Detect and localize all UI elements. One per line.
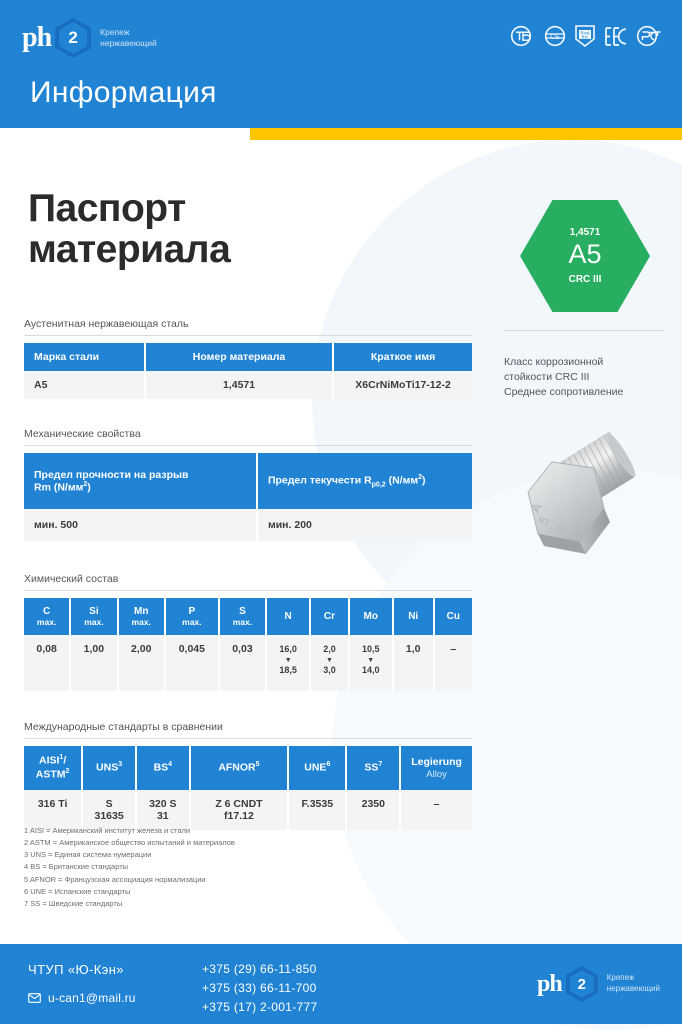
qual-si: max. <box>81 617 106 627</box>
footer-email-text: u-can1@mail.ru <box>48 991 136 1005</box>
footnote-item: 1 AISI = Американский институт железа и … <box>24 825 235 837</box>
col-header-une: UNE6 <box>288 746 346 790</box>
mechanical-properties-block: Механические свойства Предел прочности н… <box>24 428 472 541</box>
uns-sup: 3 <box>118 761 122 768</box>
col-header-c: Cmax. <box>24 598 70 635</box>
svg-text:frei: frei <box>582 35 588 40</box>
col-header-p: Pmax. <box>165 598 219 635</box>
cell-une: F.3535 <box>288 790 346 830</box>
footer-brand-tagline: Крепеж нержавеющий <box>607 973 660 995</box>
footnote-item: 3 UNS = Единая система нумерации <box>24 849 235 861</box>
yield-mid: (N/мм <box>386 474 418 486</box>
une-sup: 6 <box>326 761 330 768</box>
chemical-composition-block: Химический состав Cmax. Simax. Mnmax. Pm… <box>24 573 472 691</box>
table-header-row: AISI1/ ASTM2 UNS3 BS4 AFNOR5 UNE6 SS7 Le… <box>24 746 472 790</box>
qual-mn: max. <box>129 617 154 627</box>
yield-sup: 2 <box>418 474 422 481</box>
cell-mo-max: 14,0 <box>360 664 382 678</box>
footnote-item: 5 AFNOR = Французская ассоциация нормали… <box>24 874 235 886</box>
bs-sup: 4 <box>168 761 172 768</box>
col-header-alloy: Legierung Alloy <box>400 746 472 790</box>
col-header-tensile-strength: Предел прочности на разрыв Rm (N/мм2) <box>24 453 257 509</box>
cell-cr: 2,0 ▼ 3,0 <box>310 635 349 691</box>
ss-sup: 7 <box>378 761 382 768</box>
ss-text: SS <box>364 762 378 774</box>
cell-ni: 1,0 <box>393 635 434 691</box>
badge-crc-class: CRC III <box>569 274 602 285</box>
footnotes-list: 1 AISI = Американский институт железа и … <box>24 825 235 910</box>
footer-brand-logo[interactable]: ph 2 Крепеж нержавеющий <box>537 966 660 1002</box>
pct-icon <box>636 25 662 47</box>
steel-grade-label: Аустенитная нержавеющая сталь <box>24 318 472 336</box>
table-row: 316 Ti S 31635 320 S 31 Z 6 CNDT f17.12 … <box>24 790 472 830</box>
col-header-n: N <box>266 598 310 635</box>
crc-line3: Среднее сопротивление <box>504 386 623 398</box>
cell-short-name: X6CrNiMoTi17-12-2 <box>333 371 472 399</box>
ce-conformity-icon: CE <box>543 25 567 47</box>
aisi-sup: 1 <box>59 754 63 761</box>
footer-phone[interactable]: +375 (29) 66-11-850 <box>202 960 317 979</box>
footer-phone[interactable]: +375 (17) 2-001-777 <box>202 998 317 1017</box>
uns-text: UNS <box>96 762 118 774</box>
cell-ss: 2350 <box>346 790 400 830</box>
table-header-row: Предел прочности на разрыв Rm (N/мм2) Пр… <box>24 453 472 509</box>
chemical-composition-table: Cmax. Simax. Mnmax. Pmax. Smax. N Cr Mo … <box>24 598 472 691</box>
accent-bar-yellow <box>250 128 682 140</box>
legierung-text: Legierung <box>411 756 462 768</box>
crc-line2: стойкости CRC III <box>504 371 589 383</box>
cell-cr-min: 2,0 <box>321 643 338 657</box>
page-footer: ЧТУП «Ю-Кэн» u-can1@mail.ru +375 (29) 66… <box>0 944 682 1024</box>
mechanical-properties-table: Предел прочности на разрыв Rm (N/мм2) Пр… <box>24 453 472 541</box>
standards-table: AISI1/ ASTM2 UNS3 BS4 AFNOR5 UNE6 SS7 Le… <box>24 746 472 830</box>
sym-c: C <box>34 606 59 617</box>
brand-number: 2 <box>68 28 77 48</box>
sym-s: S <box>230 606 255 617</box>
tensile-line1: Предел прочности на разрыв <box>34 469 188 481</box>
afnor-sup: 5 <box>256 761 260 768</box>
cell-alloy: – <box>400 790 472 830</box>
footer-brand-number: 2 <box>578 976 586 993</box>
eac-icon <box>603 26 629 47</box>
footer-phone[interactable]: +375 (33) 66-11-700 <box>202 979 317 998</box>
col-header-cu: Cu <box>434 598 472 635</box>
cell-tensile-value: мин. 500 <box>24 509 257 541</box>
standards-label: Международные стандарты в сравнении <box>24 721 472 739</box>
footnote-item: 7 SS = Шведские стандарты <box>24 898 235 910</box>
steel-grade-block: Аустенитная нержавеющая сталь Марка стал… <box>24 318 472 399</box>
cell-si: 1,00 <box>70 635 117 691</box>
certification-badges: CE Rost frei <box>510 24 662 48</box>
crc-divider <box>504 330 664 331</box>
mechanical-properties-label: Механические свойства <box>24 428 472 446</box>
afnor-text: AFNOR <box>218 762 255 774</box>
table-row: мин. 500 мин. 200 <box>24 509 472 541</box>
footer-phone-list: +375 (29) 66-11-850 +375 (33) 66-11-700 … <box>202 960 317 1017</box>
col-header-uns: UNS3 <box>82 746 136 790</box>
page-title: Информация <box>30 76 217 110</box>
brand-tagline: Крепеж нержавеющий <box>100 27 157 50</box>
une-text: UNE <box>304 762 326 774</box>
col-header-ni: Ni <box>393 598 434 635</box>
cell-uns: S 31635 <box>82 790 136 830</box>
brand-tagline-line2: нержавеющий <box>100 38 157 48</box>
cell-n: 16,0 ▼ 18,5 <box>266 635 310 691</box>
qual-c: max. <box>34 617 59 627</box>
chemical-composition-label: Химический состав <box>24 573 472 591</box>
cell-s: 0,03 <box>219 635 266 691</box>
cell-steel-grade: A5 <box>24 371 145 399</box>
brand-tagline-line1: Крепеж <box>100 27 129 37</box>
sym-ni: Ni <box>404 611 423 622</box>
cell-c: 0,08 <box>24 635 70 691</box>
col-header-short-name: Краткое имя <box>333 343 472 371</box>
sym-cu: Cu <box>445 611 462 622</box>
col-header-mn: Mnmax. <box>118 598 165 635</box>
table-row: 0,08 1,00 2,00 0,045 0,03 16,0 ▼ 18,5 2,… <box>24 635 472 691</box>
range-arrow-icon: ▼ <box>277 657 299 665</box>
tensile-sup: 2 <box>83 481 87 488</box>
cell-cu: – <box>434 635 472 691</box>
astm-text: ASTM <box>36 769 66 781</box>
footer-brand-tagline-line1: Крепеж <box>607 973 635 982</box>
yield-pre: Предел текучести R <box>268 474 372 486</box>
sym-mn: Mn <box>129 606 154 617</box>
range-arrow-icon: ▼ <box>360 657 382 665</box>
brand-hexagon-icon: 2 <box>55 18 91 58</box>
steel-grade-table: Марка стали Номер материала Краткое имя … <box>24 343 472 399</box>
cell-material-number: 1,4571 <box>145 371 333 399</box>
gost-r-tb-icon <box>510 25 536 47</box>
yield-sub: p0,2 <box>372 481 386 488</box>
footer-brand-hexagon-icon: 2 <box>566 966 598 1002</box>
astm-sup: 2 <box>66 768 70 775</box>
sym-mo: Mo <box>360 611 382 622</box>
footer-company-name: ЧТУП «Ю-Кэн» <box>28 962 124 977</box>
table-row: A5 1,4571 X6CrNiMoTi17-12-2 <box>24 371 472 399</box>
brand-logo[interactable]: ph 2 Крепеж нержавеющий <box>22 18 157 58</box>
table-header-row: Марка стали Номер материала Краткое имя <box>24 343 472 371</box>
rostfrei-icon: Rost frei <box>574 24 596 48</box>
material-hexagon-badge: 1,4571 A5 CRC III <box>520 200 650 312</box>
material-badge-wrap: 1,4571 A5 CRC III <box>520 200 662 312</box>
footer-email[interactable]: u-can1@mail.ru <box>28 991 136 1005</box>
sym-n: N <box>277 611 299 622</box>
col-header-mo: Mo <box>349 598 393 635</box>
sym-si: Si <box>81 606 106 617</box>
footer-brand-tagline-line2: нержавеющий <box>607 984 660 993</box>
col-header-material-number: Номер материала <box>145 343 333 371</box>
col-header-bs: BS4 <box>136 746 190 790</box>
svg-text:CE: CE <box>550 34 560 41</box>
cell-p: 0,045 <box>165 635 219 691</box>
document-title-line2: материала <box>28 228 230 271</box>
badge-grade: A5 <box>568 240 601 270</box>
footnote-item: 6 UNE = Испанские стандарты <box>24 886 235 898</box>
tensile-line2: Rm (N/мм <box>34 481 83 493</box>
main-content: Паспорт материала Аустенитная нержавеюща… <box>0 140 682 930</box>
badge-material-number: 1,4571 <box>570 227 601 238</box>
footnote-item: 2 ASTM = Американское общество испытаний… <box>24 837 235 849</box>
qual-s: max. <box>230 617 255 627</box>
col-header-si: Simax. <box>70 598 117 635</box>
document-title-line1: Паспорт <box>28 187 186 230</box>
col-header-aisi-astm: AISI1/ ASTM2 <box>24 746 82 790</box>
cell-n-max: 18,5 <box>277 664 299 678</box>
hex-bolt-photo: A 5 λ <box>508 430 668 590</box>
cell-afnor: Z 6 CNDT f17.12 <box>190 790 289 830</box>
crc-line1: Класс коррозионной <box>504 356 603 368</box>
sym-cr: Cr <box>321 611 338 622</box>
footer-brand-ph-text: ph <box>537 972 562 996</box>
col-header-cr: Cr <box>310 598 349 635</box>
alloy-text: Alloy <box>411 769 462 781</box>
col-header-s: Smax. <box>219 598 266 635</box>
cell-n-min: 16,0 <box>277 643 299 657</box>
table-header-row: Cmax. Simax. Mnmax. Pmax. Smax. N Cr Mo … <box>24 598 472 635</box>
mail-icon <box>28 993 41 1003</box>
brand-ph-text: ph <box>22 24 51 52</box>
standards-block: Международные стандарты в сравнении AISI… <box>24 721 472 830</box>
cell-mn: 2,00 <box>118 635 165 691</box>
cell-bs: 320 S 31 <box>136 790 190 830</box>
cell-cr-max: 3,0 <box>321 664 338 678</box>
sym-p: P <box>176 606 208 617</box>
col-header-yield-strength: Предел текучести Rp0,2 (N/мм2) <box>257 453 472 509</box>
cell-yield-value: мин. 200 <box>257 509 472 541</box>
cell-aisi-astm: 316 Ti <box>24 790 82 830</box>
footnote-item: 4 BS = Британские стандарты <box>24 861 235 873</box>
range-arrow-icon: ▼ <box>321 657 338 665</box>
crc-description: Класс коррозионной стойкости CRC III Сре… <box>504 355 674 401</box>
col-header-ss: SS7 <box>346 746 400 790</box>
document-title: Паспорт материала <box>28 188 230 271</box>
cell-mo-min: 10,5 <box>360 643 382 657</box>
col-header-steel-grade: Марка стали <box>24 343 145 371</box>
cell-mo: 10,5 ▼ 14,0 <box>349 635 393 691</box>
bs-text: BS <box>154 762 169 774</box>
page-header: ph 2 Крепеж нержавеющий CE Rost frei <box>0 0 682 128</box>
col-header-afnor: AFNOR5 <box>190 746 289 790</box>
aisi-text: AISI <box>39 755 59 767</box>
qual-p: max. <box>176 617 208 627</box>
